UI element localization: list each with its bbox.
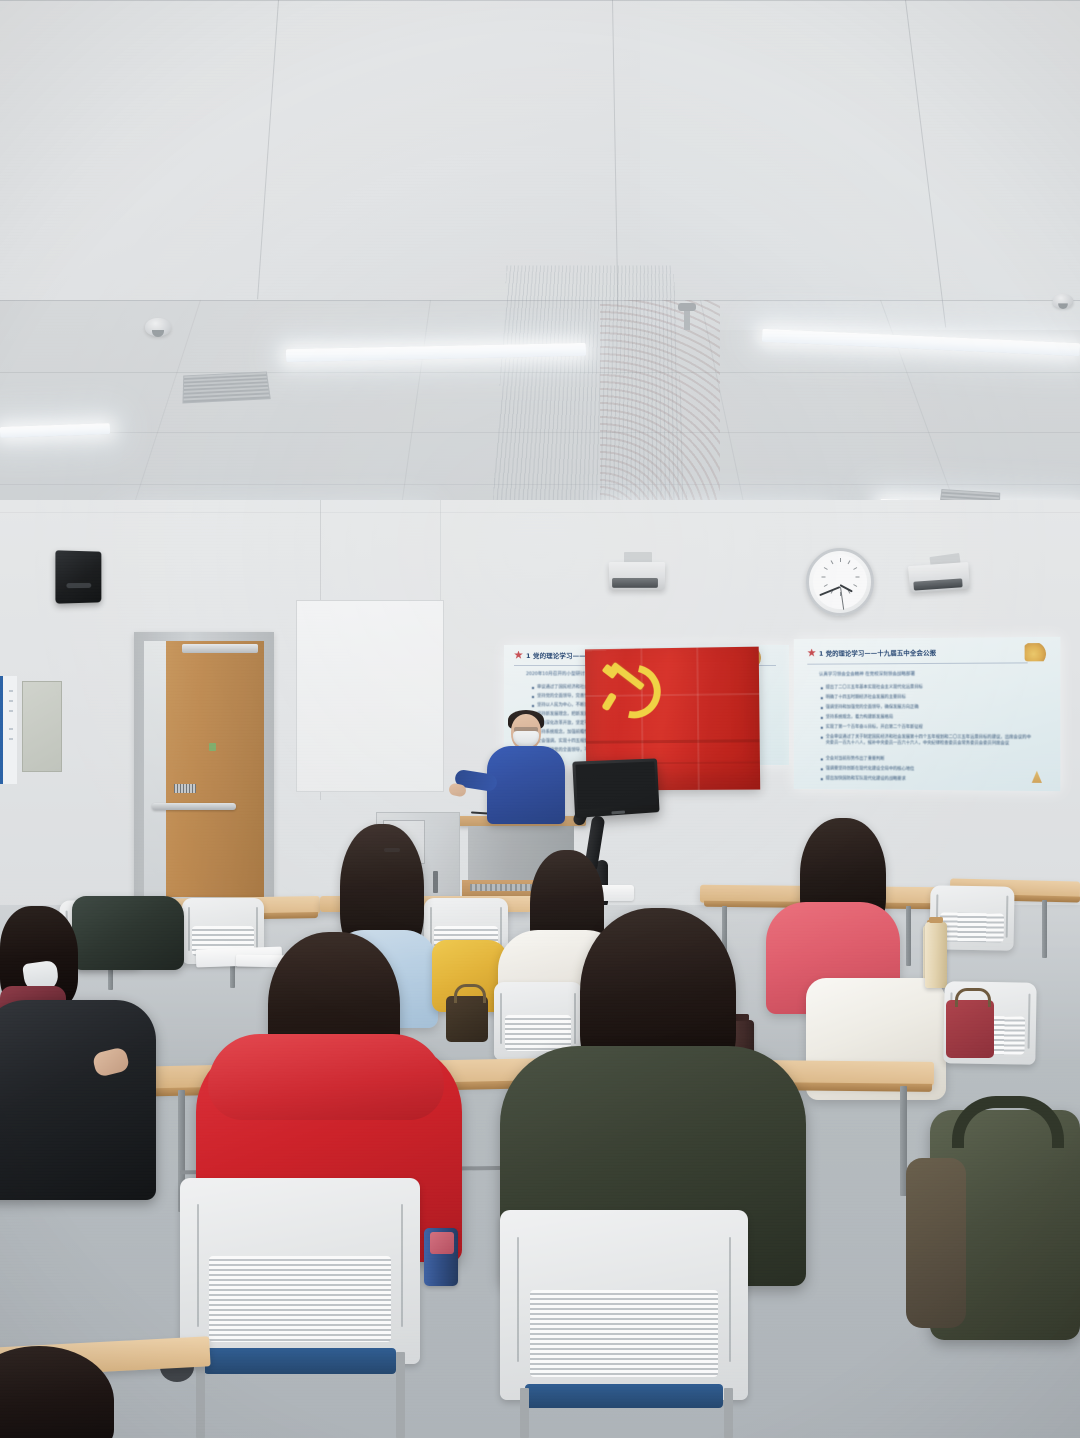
- poster-line: [9, 738, 13, 740]
- podium-monitor: [572, 758, 659, 818]
- slide-title-rule: [807, 662, 1027, 664]
- chair-slot: [188, 907, 190, 951]
- slide-title-right: 1 党的理论学习——十九届五中全会公报: [807, 647, 936, 658]
- podium-vent-grille: [470, 884, 532, 891]
- door-vision-grille: [174, 784, 196, 793]
- ceiling: [0, 0, 1080, 545]
- chair-leg: [724, 1388, 733, 1438]
- table-leg: [906, 906, 911, 966]
- ceiling-light: [0, 423, 110, 438]
- ceiling-panel-left: [0, 0, 640, 300]
- clock-tick: [853, 567, 857, 570]
- clock-tick: [856, 577, 860, 578]
- slide-bullet: 提出加快国防和军队现代化建设的战略要求: [821, 776, 1034, 783]
- chair-backrest: [180, 1178, 420, 1364]
- smoke-detector: [145, 318, 171, 336]
- clock-tick: [831, 560, 834, 564]
- clock-tick: [822, 577, 826, 578]
- clock-face: [813, 555, 867, 609]
- slide-bullet: 强调要坚持创新在现代化建设全局中的核心地位: [821, 766, 1034, 773]
- clock-tick: [824, 567, 828, 570]
- chair-slot: [401, 1204, 403, 1327]
- handbag-brown: [446, 996, 488, 1042]
- flag-fold: [696, 648, 699, 790]
- poster-line: [9, 728, 13, 730]
- bag-handle: [955, 988, 992, 1007]
- slide-bullet: 全会对当前形势作出了重要判断: [821, 756, 1034, 763]
- party-emblem-icon: [807, 648, 816, 657]
- clock-second-hand: [840, 587, 844, 610]
- clock-hour-hand: [840, 584, 853, 592]
- monitor-screen: [575, 761, 656, 809]
- door-sidelite: [144, 641, 166, 897]
- slide-bullet: 坚持系统观念，着力构建新发展格局: [821, 715, 1034, 721]
- slide-subtitle-left: 2020年10月召开的小型研讨: [526, 671, 585, 677]
- chair-slot: [729, 1237, 731, 1362]
- poster-line: [9, 690, 13, 692]
- table-leg: [1042, 900, 1047, 958]
- chair-seat: [525, 1384, 723, 1408]
- flag-fold: [586, 739, 760, 744]
- projector-lens: [612, 578, 658, 587]
- bag-handle: [454, 984, 487, 1003]
- coat-dark: [72, 896, 184, 970]
- slide-bullet: 强调坚持和加强党的全面领导，确保发展方向正确: [821, 705, 1034, 711]
- cabinet-slot: [433, 871, 438, 893]
- chair-slot: [256, 907, 258, 951]
- chair-slot: [574, 993, 576, 1044]
- clock-tick: [848, 560, 851, 564]
- whiteboard: [296, 600, 444, 792]
- smoke-detector: [1053, 294, 1074, 308]
- clock-tick: [840, 558, 841, 562]
- attendee-2-glasses: [384, 848, 400, 852]
- party-emblem-icon: [514, 651, 523, 660]
- wall-notice-panel: [22, 681, 62, 772]
- ceiling-light: [762, 329, 1080, 356]
- projector-lens: [913, 578, 963, 590]
- slide-decoration-icon: [1025, 643, 1047, 661]
- poster-line: [9, 700, 13, 702]
- slide-bullet: 明确了十四五时期经济社会发展的主要目标: [821, 695, 1034, 701]
- ceiling-moire-pattern: [600, 300, 720, 530]
- presenter-torso: [487, 746, 565, 824]
- classroom-photo: 1 党的理论学习——十九届五中全会公报 2020年10月召开的小型研讨 审议通过…: [0, 0, 1080, 1438]
- monitor-brand-logo: [611, 810, 625, 814]
- chair[interactable]: [500, 1210, 748, 1400]
- ceiling-seam: [0, 0, 1080, 1]
- clock-minute-hand: [820, 586, 841, 596]
- chair-leg: [396, 1352, 405, 1438]
- poster-line: [9, 710, 13, 712]
- chair-leg: [520, 1388, 529, 1438]
- chair-backrest: [500, 1210, 748, 1400]
- ceiling-projector-right: [908, 562, 970, 593]
- hvac-vent: [182, 372, 270, 404]
- chair-seat: [204, 1348, 396, 1374]
- sticker-on-bottle: [430, 1232, 454, 1254]
- slide-bullet: 实现了第一个百年奋斗目标，开启第二个百年新征程: [821, 725, 1034, 731]
- chair-slot: [197, 1204, 199, 1327]
- thermos-cream: [925, 922, 947, 988]
- door-push-bar[interactable]: [152, 803, 236, 810]
- analog-wall-clock: [806, 548, 874, 616]
- slide-subtitle-right: 认真学习领会全会精神 在党校深刻领会战略部署: [819, 671, 915, 677]
- door-exit-indicator: [209, 743, 216, 751]
- hammer-sickle-emblem-icon: [601, 662, 659, 715]
- chair[interactable]: [180, 1178, 420, 1364]
- door-closer: [182, 644, 258, 653]
- handbag-red: [946, 1000, 994, 1058]
- wall-speaker: [55, 550, 101, 603]
- ceiling-projector-left: [609, 562, 665, 590]
- slide-bullet: 全会审议通过了关于制定国民经济和社会发展第十四个五年规划和二〇三五年远景目标的建…: [821, 735, 1034, 747]
- projection-screen-right: 1 党的理论学习——十九届五中全会公报 认真学习领会全会精神 在党校深刻领会战略…: [794, 637, 1061, 791]
- wall-poster: [0, 676, 17, 784]
- wall-seam: [0, 512, 1080, 513]
- clock-tick: [853, 584, 857, 587]
- clock-tick: [824, 584, 828, 587]
- bottle-cap: [929, 917, 943, 923]
- sprinkler-head: [684, 308, 690, 330]
- ceiling-panel-right: [640, 0, 1080, 330]
- backpack-side-pocket: [906, 1158, 966, 1328]
- attendee-1-torso: [0, 1000, 156, 1200]
- classroom-door[interactable]: [166, 641, 264, 897]
- chair-slot: [500, 993, 502, 1044]
- attendee-3-hood: [208, 1034, 444, 1120]
- slide-title-text: 1 党的理论学习——十九届五中全会公报: [819, 647, 936, 658]
- slide-bullet: 提出了二〇三五年基本实现社会主义现代化远景目标: [821, 685, 1034, 691]
